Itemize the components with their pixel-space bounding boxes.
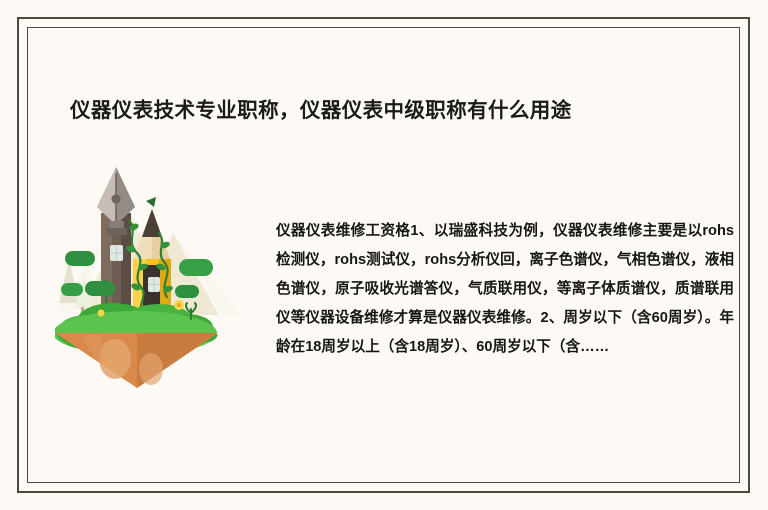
island-soil (55, 333, 218, 388)
article-body: 仪器仪表维修工资格1、以瑞盛科技为例，仪器仪表维修主要是以rohs检测仪，roh… (276, 217, 734, 362)
nib-breather-hole (111, 194, 120, 203)
vine-top-bud (146, 197, 156, 207)
page-canvas: 仪器仪表技术专业职称，仪器仪表中级职称有什么用途 (0, 0, 768, 510)
floating-island-illustration (55, 163, 245, 388)
page-title: 仪器仪表技术专业职称，仪器仪表中级职称有什么用途 (70, 98, 710, 125)
